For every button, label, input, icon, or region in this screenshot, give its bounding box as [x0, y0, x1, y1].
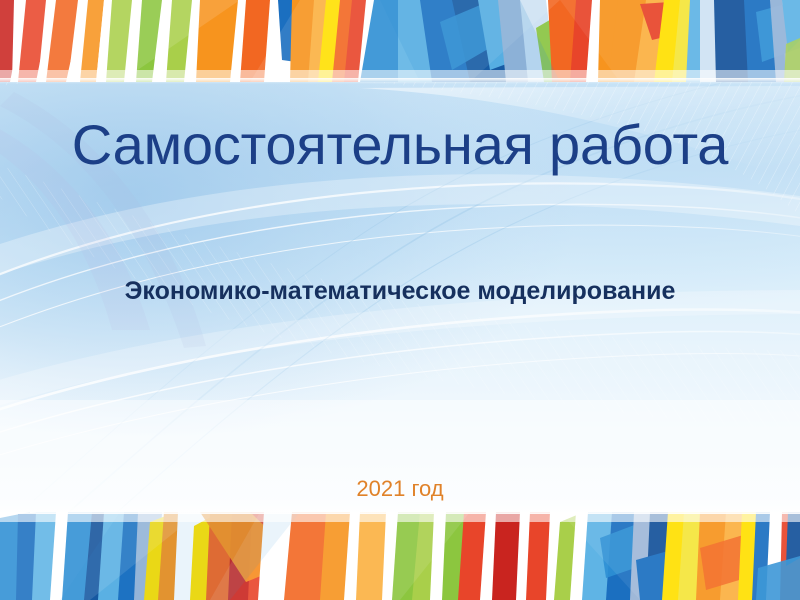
presentation-slide: Самостоятельная работа Экономико-математ…: [0, 0, 800, 600]
slide-subtitle: Экономико-математическое моделирование: [0, 276, 800, 306]
slide-text-layer: Самостоятельная работа Экономико-математ…: [0, 0, 800, 600]
slide-title: Самостоятельная работа: [0, 116, 800, 175]
slide-year: 2021 год: [0, 476, 800, 502]
